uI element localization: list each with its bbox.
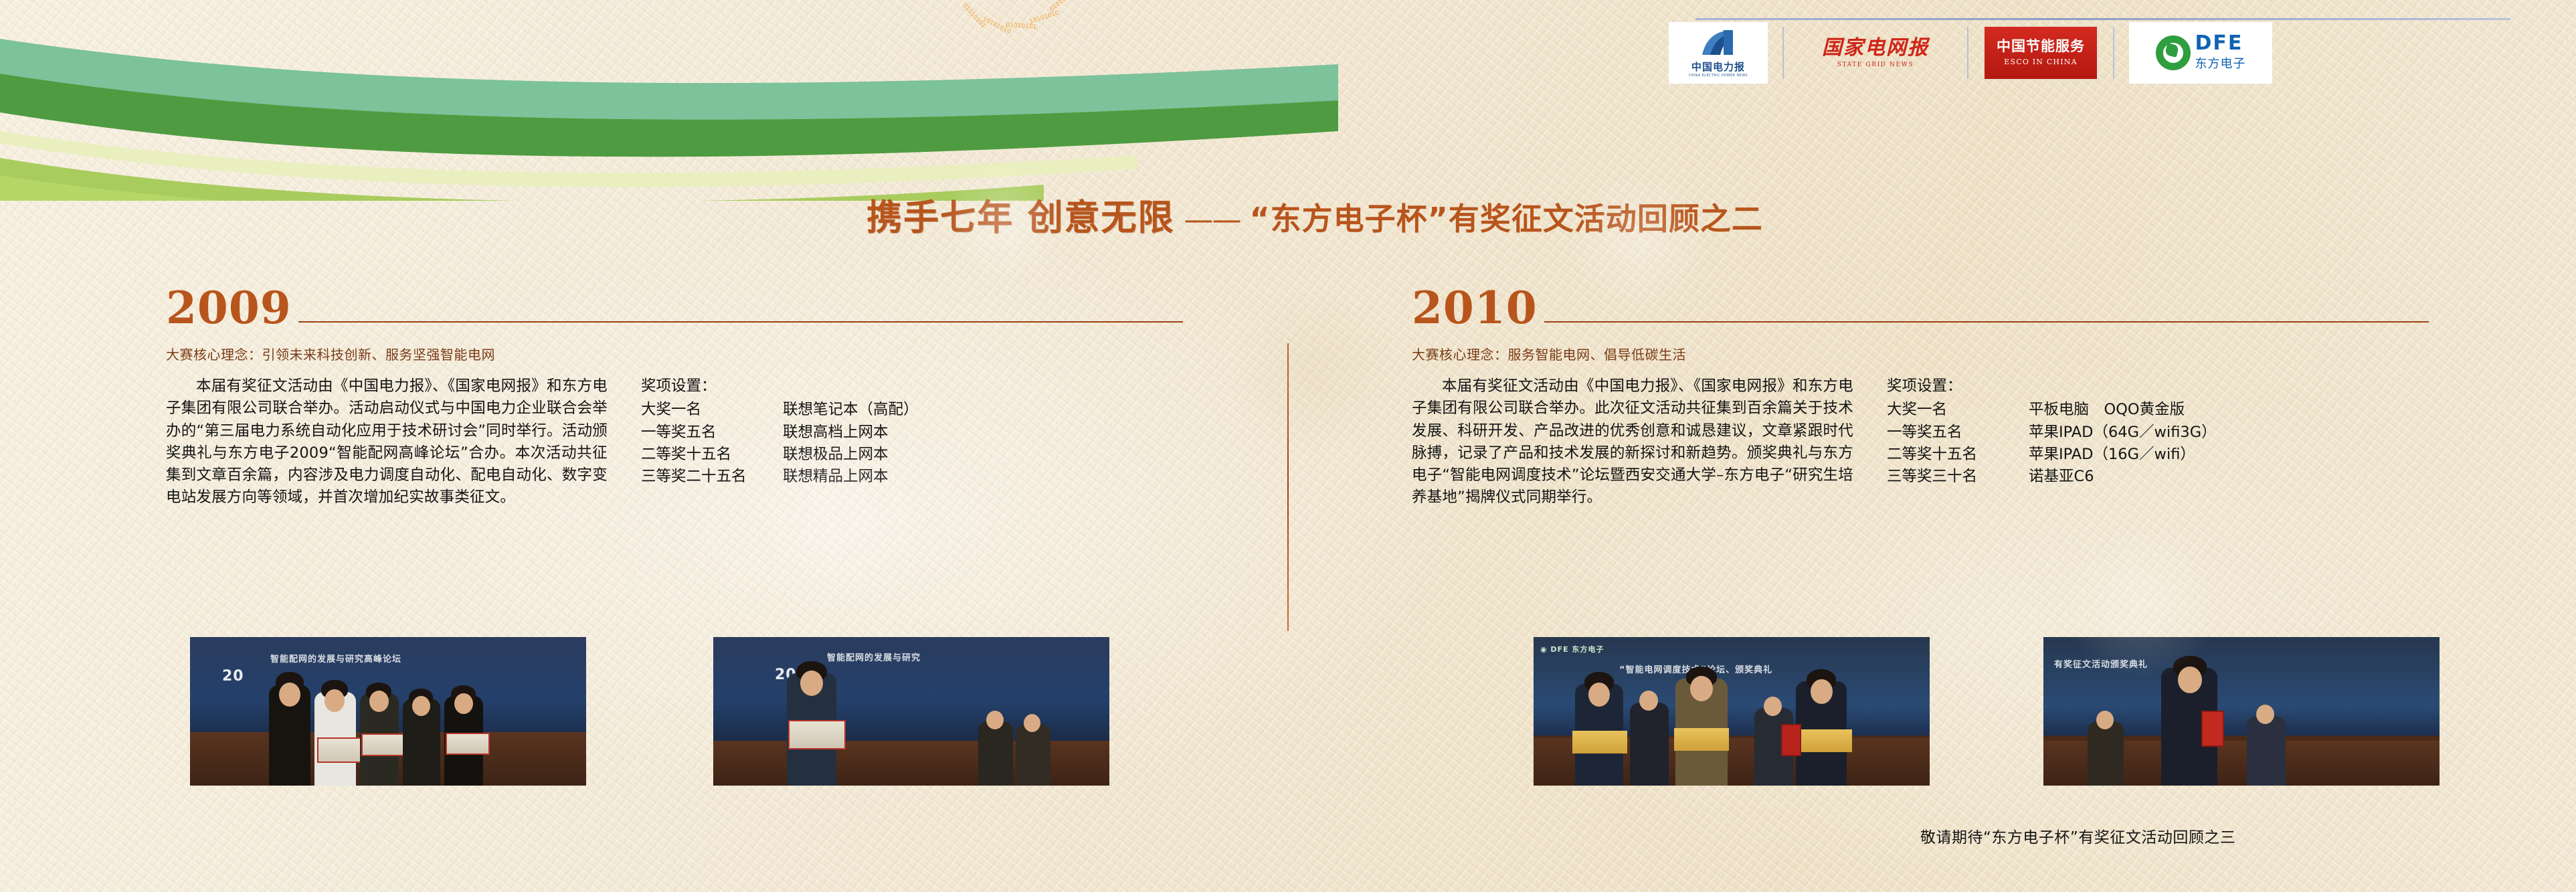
award-prize: 苹果IPAD（64G／wifi3G） — [2029, 422, 2217, 444]
award-row: 大奖一名 平板电脑 OQO黄金版 — [1887, 399, 2217, 421]
logo-esco-in-china: 中国节能服务 ESCO IN CHINA — [1983, 22, 2098, 84]
photo-banner-text: 有奖征文活动颁奖典礼 — [2054, 657, 2148, 670]
logo-china-electric-power-news: 中国电力报 CHINA ELECTRIC POWER NEWS — [1669, 22, 1768, 84]
year-number-2010: 2010 — [1412, 287, 1538, 329]
svg-text:01010101: 01010101 — [1006, 22, 1036, 31]
awards-title-2010: 奖项设置： — [1887, 375, 2217, 397]
photo-award-ceremony-2009-single: 智能配网的发展与研究 20 — [713, 637, 1109, 786]
esco-en-label: ESCO IN CHINA — [2004, 58, 2078, 66]
svg-text:10101010: 10101010 — [982, 16, 1012, 35]
logo-state-grid-news: 国家电网报 STATE GRID NEWS — [1799, 22, 1952, 84]
photo-banner-year: 20 — [222, 668, 244, 685]
award-prize: 诺基亚C6 — [2029, 466, 2094, 488]
esco-cn-label: 中国节能服务 — [1997, 39, 2085, 54]
award-level: 二等奖十五名 — [1887, 444, 2029, 466]
year-heading-2010: 2010 — [1412, 281, 2429, 329]
title-part-2: “东方电子杯”有奖征文活动回顾之二 — [1249, 195, 1762, 239]
logo-separator-2 — [1952, 22, 1983, 84]
year-heading-2009: 2009 — [166, 281, 1183, 329]
award-prize: 联想笔记本（高配） — [783, 399, 919, 421]
award-prize: 联想极品上网本 — [783, 444, 889, 466]
award-level: 二等奖十五名 — [641, 444, 783, 466]
section-2009: 2009 大赛核心理念：引领未来科技创新、服务坚强智能电网 本届有奖征文活动由《… — [166, 281, 1183, 509]
awards-list-2009: 奖项设置： 大奖一名 联想笔记本（高配） 一等奖五名 联想高档上网本 二等奖十五… — [641, 375, 919, 509]
concept-2010: 大赛核心理念：服务智能电网、倡导低碳生活 — [1412, 344, 2429, 363]
poster-page: 10101010 01010101 10101010 01010101 1010… — [0, 0, 2576, 892]
photo-award-ceremony-2009-group: 智能配网的发展与研究高峰论坛 20 — [190, 637, 586, 786]
awards-list-2010: 奖项设置： 大奖一名 平板电脑 OQO黄金版 一等奖五名 苹果IPAD（64G／… — [1887, 375, 2217, 509]
year-number-2009: 2009 — [166, 287, 292, 329]
section-2010: 2010 大赛核心理念：服务智能电网、倡导低碳生活 本届有奖征文活动由《中国电力… — [1412, 281, 2429, 509]
body-text-block-2010: 本届有奖征文活动由《中国电力报》、《国家电网报》和东方电子集团有限公司联合举办。… — [1412, 375, 1853, 509]
award-level: 三等奖二十五名 — [641, 466, 783, 488]
logo-dfe: DFE 东方电子 — [2129, 22, 2272, 84]
body-text-2010: 本届有奖征文活动由《中国电力报》、《国家电网报》和东方电子集团有限公司联合举办。… — [1412, 375, 1853, 509]
awards-title-2009: 奖项设置： — [641, 375, 919, 397]
award-prize: 联想高档上网本 — [783, 422, 889, 444]
award-prize: 苹果IPAD（16G／wifi） — [2029, 444, 2195, 466]
award-level: 大奖一名 — [641, 399, 783, 421]
cepn-en-label: CHINA ELECTRIC POWER NEWS — [1689, 74, 1748, 78]
award-prize: 平板电脑 OQO黄金版 — [2029, 399, 2185, 421]
award-level: 一等奖五名 — [641, 422, 783, 444]
svg-text:01010101: 01010101 — [1048, 0, 1077, 13]
cepn-cn-label: 中国电力报 — [1691, 60, 1745, 74]
logo-separator-3 — [2098, 22, 2129, 84]
title-part-1: 携手七年 创意无限 — [866, 189, 1174, 240]
photo-banner-text: 智能配网的发展与研究 — [827, 650, 921, 663]
award-row: 一等奖五名 联想高档上网本 — [641, 422, 919, 444]
sgn-cn-label: 国家电网报 — [1822, 38, 1929, 58]
award-level: 一等奖五名 — [1887, 422, 2029, 444]
dfe-watermark-icon: ◉ DFE 东方电子 — [1540, 644, 1604, 654]
award-level: 三等奖三十名 — [1887, 466, 2029, 488]
award-row: 三等奖二十五名 联想精品上网本 — [641, 466, 919, 488]
award-row: 三等奖三十名 诺基亚C6 — [1887, 466, 2217, 488]
year-rule-2010 — [1544, 321, 2429, 323]
body-text-2009: 本届有奖征文活动由《中国电力报》、《国家电网报》和东方电子集团有限公司联合举办。… — [166, 375, 608, 509]
cepn-mark-icon — [1697, 28, 1740, 58]
photo-award-ceremony-2010-single: 有奖征文活动颁奖典礼 — [2043, 637, 2440, 786]
section-divider — [1287, 343, 1289, 631]
award-row: 大奖一名 联想笔记本（高配） — [641, 399, 919, 421]
year-rule-2009 — [298, 321, 1183, 323]
award-row: 二等奖十五名 联想极品上网本 — [641, 444, 919, 466]
sgn-en-label: STATE GRID NEWS — [1837, 62, 1914, 68]
dfe-ring-icon — [2156, 35, 2191, 70]
photo-award-ceremony-2010-group: ◉ DFE 东方电子 “智能电网调度技术”论坛、颁奖典礼 — [1534, 637, 1930, 786]
partner-logo-strip: 中国电力报 CHINA ELECTRIC POWER NEWS 国家电网报 ST… — [1669, 10, 2552, 85]
svg-text:01010101: 01010101 — [961, 3, 986, 30]
dfe-cn-label: 东方电子 — [2195, 54, 2246, 72]
award-level: 大奖一名 — [1887, 399, 2029, 421]
title-dash: —— — [1184, 203, 1240, 237]
sunburst-decoration: 10101010 01010101 10101010 01010101 1010… — [923, 0, 1097, 82]
award-prize: 联想精品上网本 — [783, 466, 889, 488]
award-row: 一等奖五名 苹果IPAD（64G／wifi3G） — [1887, 422, 2217, 444]
concept-2009: 大赛核心理念：引领未来科技创新、服务坚强智能电网 — [166, 344, 1183, 363]
logo-divider-rule — [1695, 18, 2510, 20]
green-swoosh-decoration — [0, 0, 1338, 201]
award-row: 二等奖十五名 苹果IPAD（16G／wifi） — [1887, 444, 2217, 466]
svg-text:10101010: 10101010 — [1029, 9, 1061, 25]
footer-note: 敬请期待“东方电子杯”有奖征文活动回顾之三 — [1920, 824, 2235, 847]
photo-banner-text: 智能配网的发展与研究高峰论坛 — [270, 652, 401, 664]
body-text-block-2009: 本届有奖征文活动由《中国电力报》、《国家电网报》和东方电子集团有限公司联合举办。… — [166, 375, 608, 509]
dfe-en-label: DFE — [2195, 34, 2246, 54]
logo-separator-1 — [1768, 22, 1799, 84]
page-title: 携手七年 创意无限 —— “东方电子杯”有奖征文活动回顾之二 — [866, 189, 1763, 227]
